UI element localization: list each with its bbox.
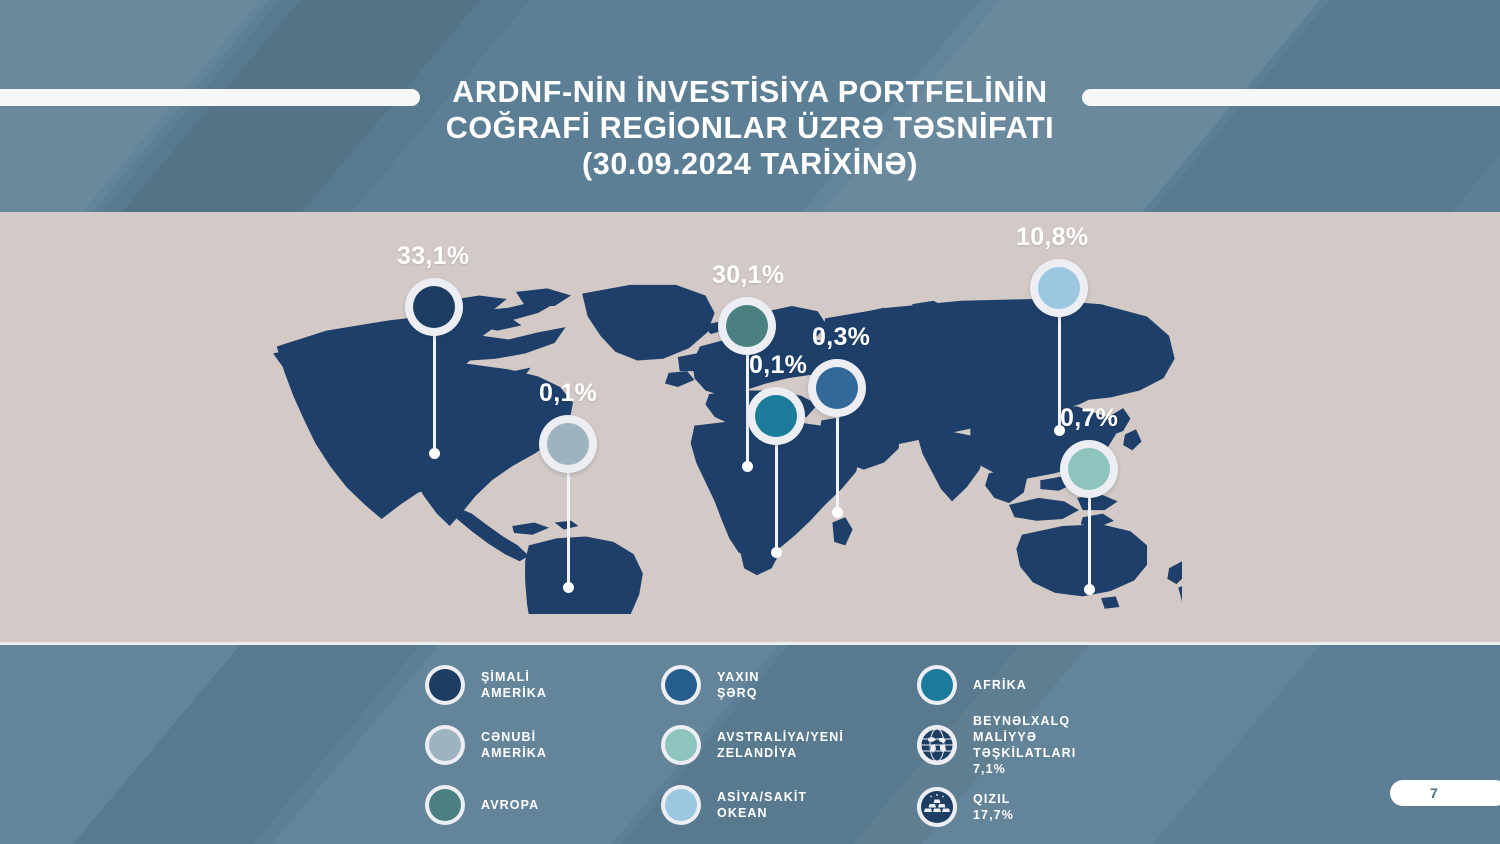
map-marker-africa[interactable]: 0,1%	[747, 387, 805, 445]
marker-ring	[718, 297, 776, 355]
map-marker-asia-pacific[interactable]: 10,8%	[1030, 259, 1088, 317]
legend-item-asiya-sakit-okean[interactable]: ASİYA/SAKİT OKEAN	[661, 783, 807, 827]
color-swatch-afrika	[917, 665, 957, 705]
slide-header: ARDNF-NİN İNVESTİSİYA PORTFELİNİN COĞRAF…	[0, 0, 1500, 212]
page-number: 7	[1430, 785, 1438, 801]
marker-value-australia-nz: 0,7%	[1060, 404, 1118, 433]
marker-value-africa: 0,1%	[749, 351, 807, 380]
page-number-badge: 7	[1390, 780, 1500, 806]
gold-bars-icon	[917, 787, 957, 827]
marker-ring	[747, 387, 805, 445]
marker-ring	[539, 415, 597, 473]
marker-ring	[808, 359, 866, 417]
slide: ARDNF-NİN İNVESTİSİYA PORTFELİNİN COĞRAF…	[0, 0, 1500, 844]
marker-value-north-america: 33,1%	[397, 242, 469, 271]
color-swatch-yaxin-serq	[661, 665, 701, 705]
page-title-line-3: (30.09.2024 TARİXİNƏ)	[0, 146, 1500, 182]
marker-dot-africa	[755, 395, 797, 437]
marker-value-middle-east: 0,3%	[812, 323, 870, 352]
map-marker-europe[interactable]: 30,1%	[718, 297, 776, 355]
marker-value-europe: 30,1%	[712, 261, 784, 290]
legend-label: AVROPA	[481, 797, 539, 813]
color-swatch-avropa	[425, 785, 465, 825]
legend-item-afrika[interactable]: AFRİKA	[917, 663, 1027, 707]
marker-ring	[1060, 440, 1118, 498]
legend-label: BEYNƏLXALQ MALİYYƏ TƏŞKİLATLARI 7,1%	[973, 713, 1076, 777]
color-swatch-cenubi-amerika	[425, 725, 465, 765]
legend-label: YAXIN ŞƏRQ	[717, 669, 760, 701]
legend-item-avropa[interactable]: AVROPA	[425, 783, 539, 827]
legend-item-yaxin-serq[interactable]: YAXIN ŞƏRQ	[661, 663, 760, 707]
legend-item-simali-amerika[interactable]: ŞİMALİ AMERİKA	[425, 663, 547, 707]
legend: ŞİMALİ AMERİKA CƏNUBİ AMERİKA AVROPA	[0, 645, 1500, 844]
page-title-line-2: COĞRAFİ REGİONLAR ÜZRƏ TƏSNİFATI	[0, 110, 1500, 146]
color-swatch-asiya-sakit-okean	[661, 785, 701, 825]
marker-value-south-america: 0,1%	[539, 379, 597, 408]
map-marker-north-america[interactable]: 33,1%	[405, 278, 463, 336]
marker-stem	[775, 443, 778, 551]
marker-tip	[1084, 584, 1095, 595]
legend-item-avstraliya-yeni-zelandiya[interactable]: AVSTRALİYA/YENİ ZELANDİYA	[661, 723, 844, 767]
marker-dot-south-america	[547, 423, 589, 465]
marker-dot-australia-nz	[1068, 448, 1110, 490]
marker-tip	[771, 547, 782, 558]
map-marker-australia-nz[interactable]: 0,7%	[1060, 440, 1118, 498]
marker-tip	[563, 582, 574, 593]
marker-stem	[567, 471, 570, 586]
marker-ring	[1030, 259, 1088, 317]
legend-item-cenubi-amerika[interactable]: CƏNUBİ AMERİKA	[425, 723, 547, 767]
page-title: ARDNF-NİN İNVESTİSİYA PORTFELİNİN COĞRAF…	[0, 74, 1500, 182]
legend-label: QIZIL 17,7%	[973, 791, 1014, 823]
legend-label: AFRİKA	[973, 677, 1027, 693]
legend-label: AVSTRALİYA/YENİ ZELANDİYA	[717, 729, 844, 761]
marker-dot-europe	[726, 305, 768, 347]
marker-tip	[832, 507, 843, 518]
marker-stem	[433, 334, 436, 452]
color-swatch-simali-amerika	[425, 665, 465, 705]
color-swatch-avstraliya-yeni-zelandiya	[661, 725, 701, 765]
marker-value-asia-pacific: 10,8%	[1016, 223, 1088, 252]
marker-tip	[742, 461, 753, 472]
legend-item-beynelxalq-maliyye-teskilatlari[interactable]: BEYNƏLXALQ MALİYYƏ TƏŞKİLATLARI 7,1%	[917, 723, 1076, 767]
marker-dot-north-america	[413, 286, 455, 328]
marker-dot-asia-pacific	[1038, 267, 1080, 309]
legend-item-qizil[interactable]: QIZIL 17,7%	[917, 785, 1014, 829]
legend-label: CƏNUBİ AMERİKA	[481, 729, 547, 761]
marker-stem	[836, 415, 839, 511]
map-marker-middle-east[interactable]: 0,3%	[808, 359, 866, 417]
page-title-line-1: ARDNF-NİN İNVESTİSİYA PORTFELİNİN	[0, 74, 1500, 110]
map-marker-south-america[interactable]: 0,1%	[539, 415, 597, 473]
map-panel: 33,1% 0,1% 30,1% 0,1%	[0, 212, 1500, 645]
marker-tip	[429, 448, 440, 459]
legend-label: ŞİMALİ AMERİKA	[481, 669, 547, 701]
marker-ring	[405, 278, 463, 336]
globe-icon	[917, 725, 957, 765]
marker-dot-middle-east	[816, 367, 858, 409]
marker-stem	[1088, 496, 1091, 588]
legend-label: ASİYA/SAKİT OKEAN	[717, 789, 807, 821]
